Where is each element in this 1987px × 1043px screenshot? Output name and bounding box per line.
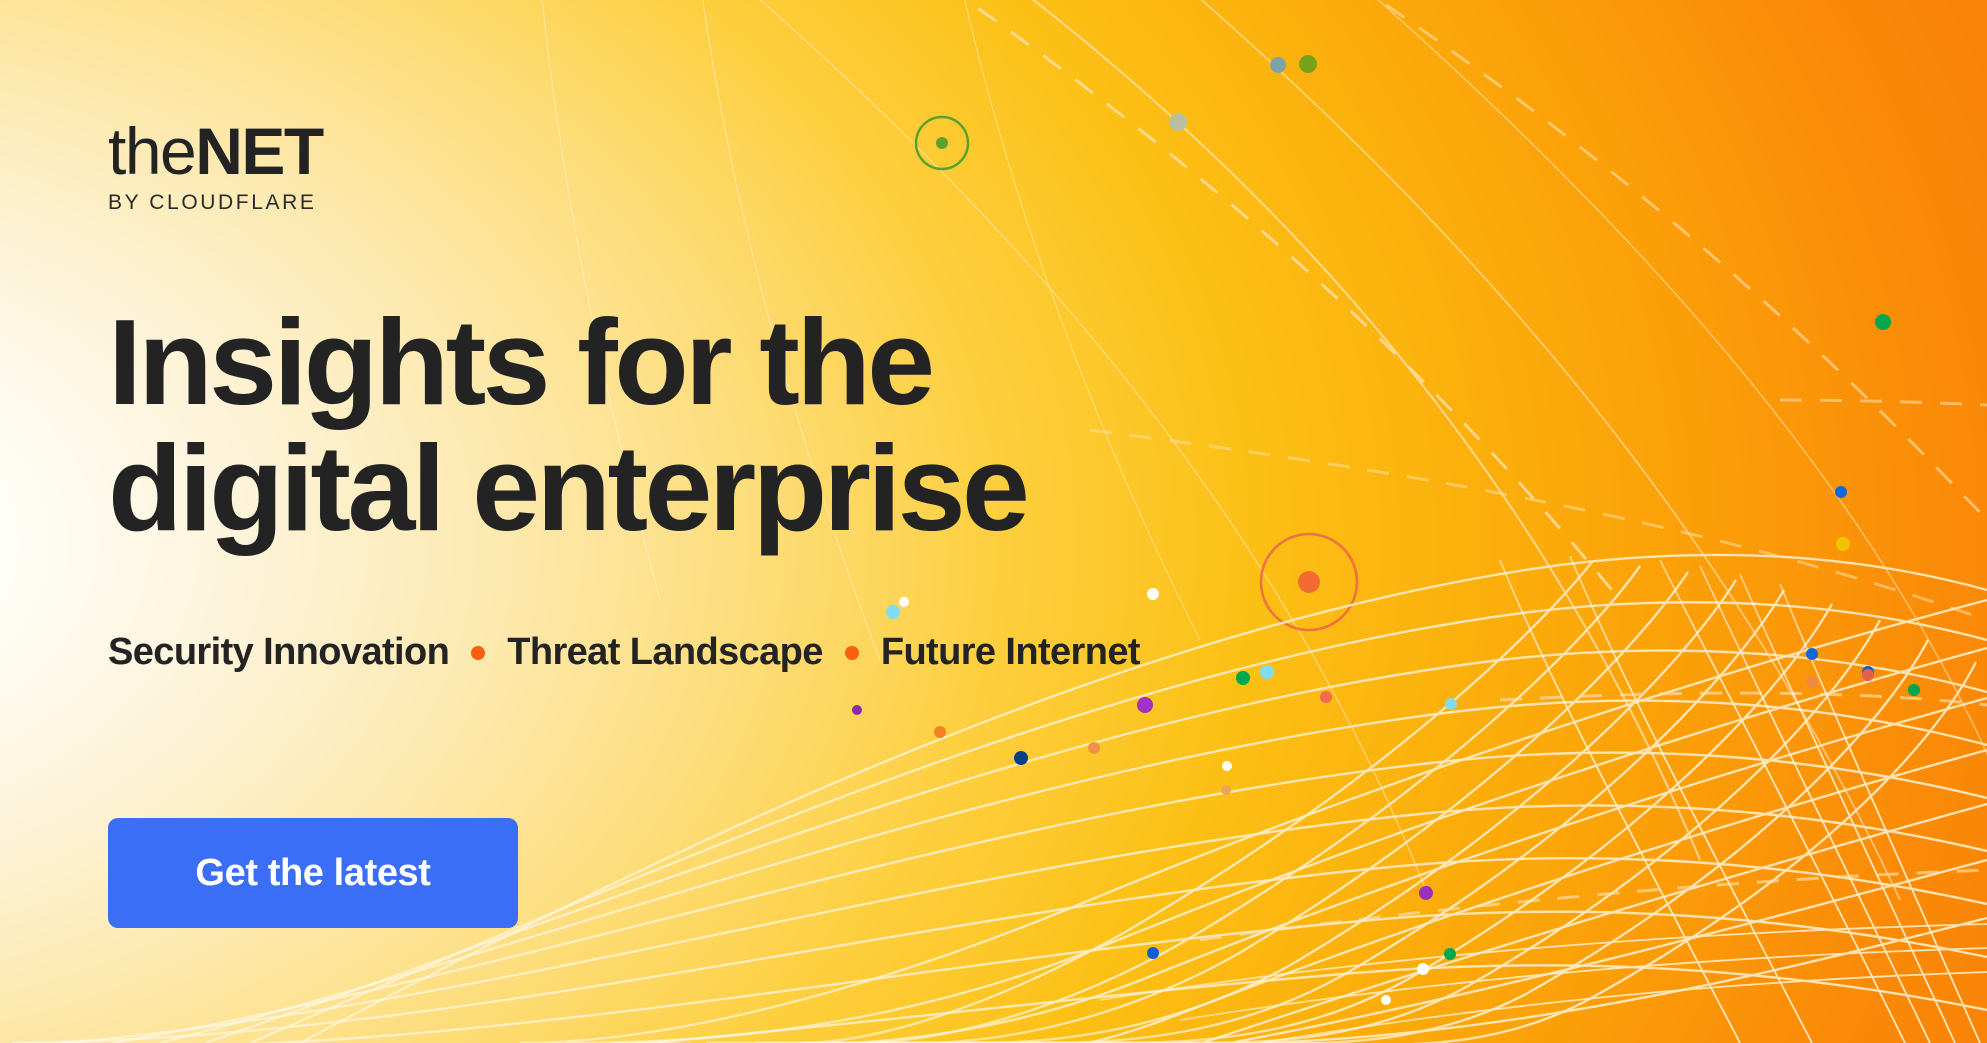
- topic-security-innovation: Security Innovation: [108, 631, 449, 674]
- bullet-separator-icon: [471, 646, 485, 660]
- bullet-separator-icon: [845, 646, 859, 660]
- logo-net: NET: [195, 114, 323, 188]
- accent-dot: [1862, 669, 1874, 681]
- accent-dot: [1417, 963, 1429, 975]
- accent-dot: [1875, 314, 1891, 330]
- accent-dot: [1445, 698, 1457, 710]
- hero-content: theNET BY CLOUDFLARE Insights for the di…: [108, 0, 1408, 1043]
- accent-dot: [1444, 948, 1456, 960]
- logo-wordmark: theNET: [108, 118, 408, 184]
- logo-byline: BY CLOUDFLARE: [108, 191, 408, 215]
- accent-dot: [1836, 537, 1850, 551]
- get-the-latest-button[interactable]: Get the latest: [108, 818, 518, 928]
- accent-dot: [1862, 666, 1874, 678]
- accent-dot: [1835, 486, 1847, 498]
- thenet-hero-banner: theNET BY CLOUDFLARE Insights for the di…: [0, 0, 1987, 1043]
- accent-dot: [1908, 684, 1920, 696]
- headline-line-1: Insights for the: [108, 300, 1026, 426]
- topic-threat-landscape: Threat Landscape: [507, 631, 823, 674]
- accent-dot: [1806, 676, 1818, 688]
- logo-the: the: [108, 114, 195, 188]
- topic-future-internet: Future Internet: [881, 631, 1140, 674]
- page-title: Insights for the digital enterprise: [108, 300, 1026, 551]
- headline-line-2: digital enterprise: [108, 426, 1026, 552]
- accent-dot: [1419, 886, 1433, 900]
- thenet-logo: theNET BY CLOUDFLARE: [108, 118, 408, 215]
- topic-list: Security Innovation Threat Landscape Fut…: [108, 631, 1140, 674]
- accent-dot: [1806, 648, 1818, 660]
